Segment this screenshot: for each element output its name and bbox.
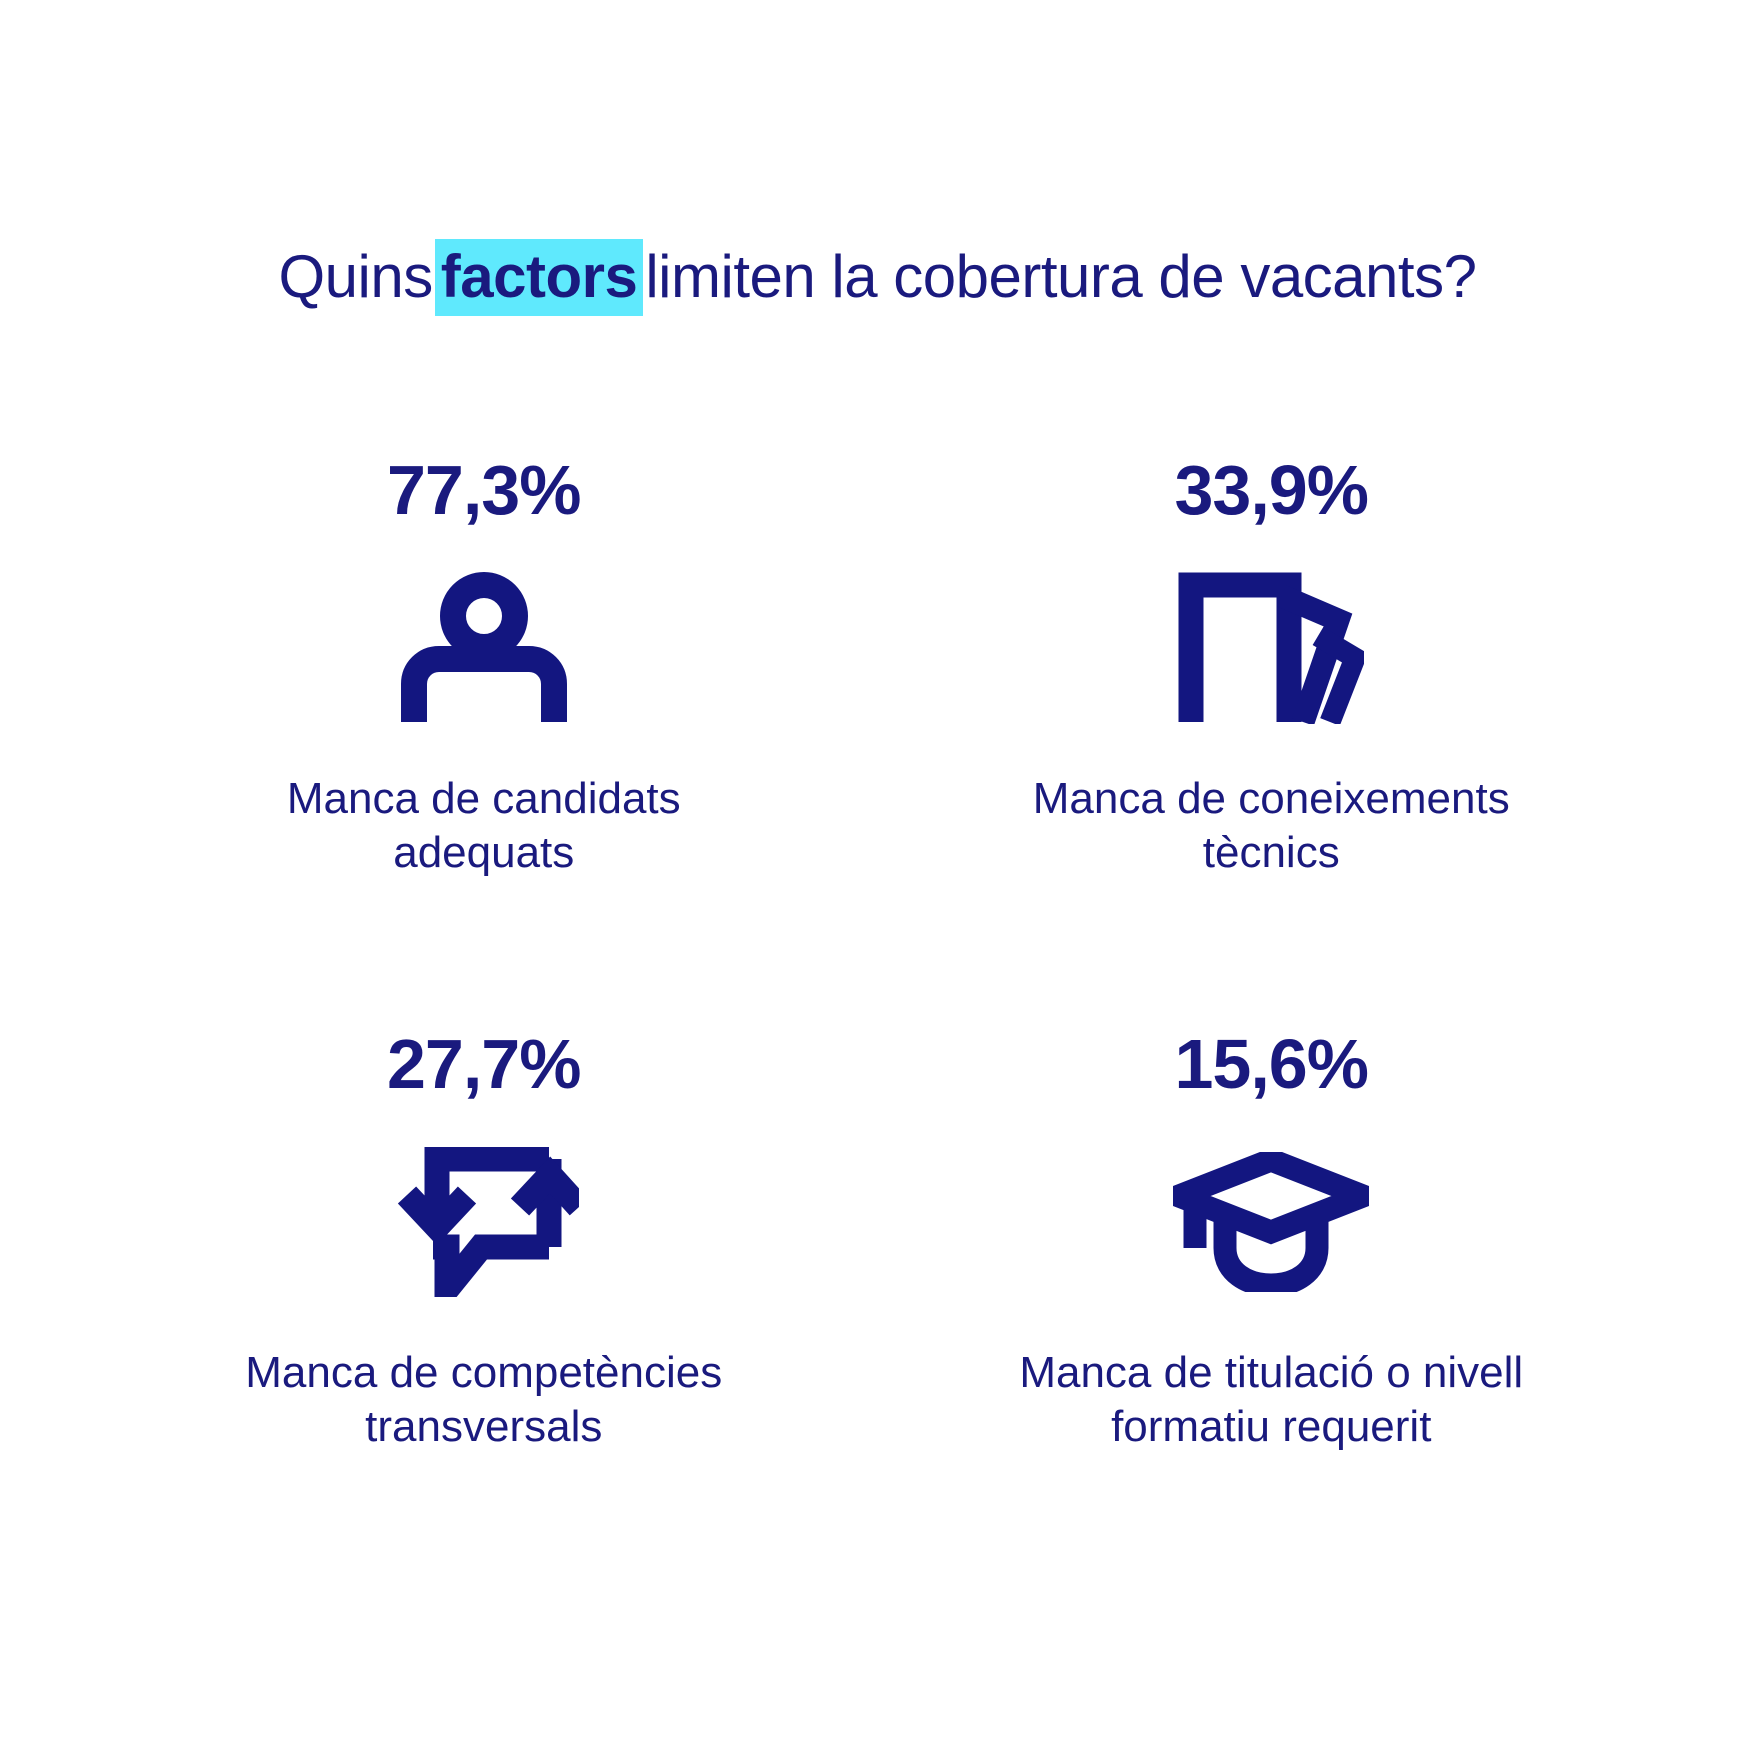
stat-card-coneixements: 33,9% Manca de coneixements tècnics	[878, 455, 1666, 879]
stat-value: 33,9%	[1175, 455, 1368, 525]
person-icon	[384, 565, 584, 730]
title-container: Quinsfactorslimiten la cobertura de vaca…	[0, 245, 1755, 308]
stat-label: Manca de coneixements tècnics	[971, 772, 1571, 879]
stat-value: 27,7%	[387, 1029, 580, 1099]
title-text-before: Quins	[279, 243, 433, 310]
stat-label: Manca de candidats adequats	[204, 772, 764, 879]
speech-exchange-icon	[384, 1139, 584, 1304]
page-title: Quinsfactorslimiten la cobertura de vaca…	[279, 245, 1477, 308]
stats-grid: 77,3% Manca de candidats adequats 33,9%	[90, 455, 1665, 1454]
infographic-root: Quinsfactorslimiten la cobertura de vaca…	[0, 0, 1755, 1755]
graduation-cap-icon	[1171, 1139, 1371, 1304]
title-text-after: limiten la cobertura de vacants?	[645, 243, 1476, 310]
stat-card-titulacio: 15,6% Manca de titulació o nivell format…	[878, 1029, 1666, 1453]
stat-card-candidats: 77,3% Manca de candidats adequats	[90, 455, 878, 879]
stat-card-competencies: 27,7% Manca de competències transversals	[90, 1029, 878, 1453]
title-highlight-word: factors	[435, 239, 644, 316]
stat-value: 77,3%	[387, 455, 580, 525]
stat-value: 15,6%	[1175, 1029, 1368, 1099]
documents-fan-icon	[1171, 565, 1371, 730]
stat-label: Manca de titulació o nivell formatiu req…	[971, 1346, 1571, 1453]
stat-label: Manca de competències transversals	[204, 1346, 764, 1453]
